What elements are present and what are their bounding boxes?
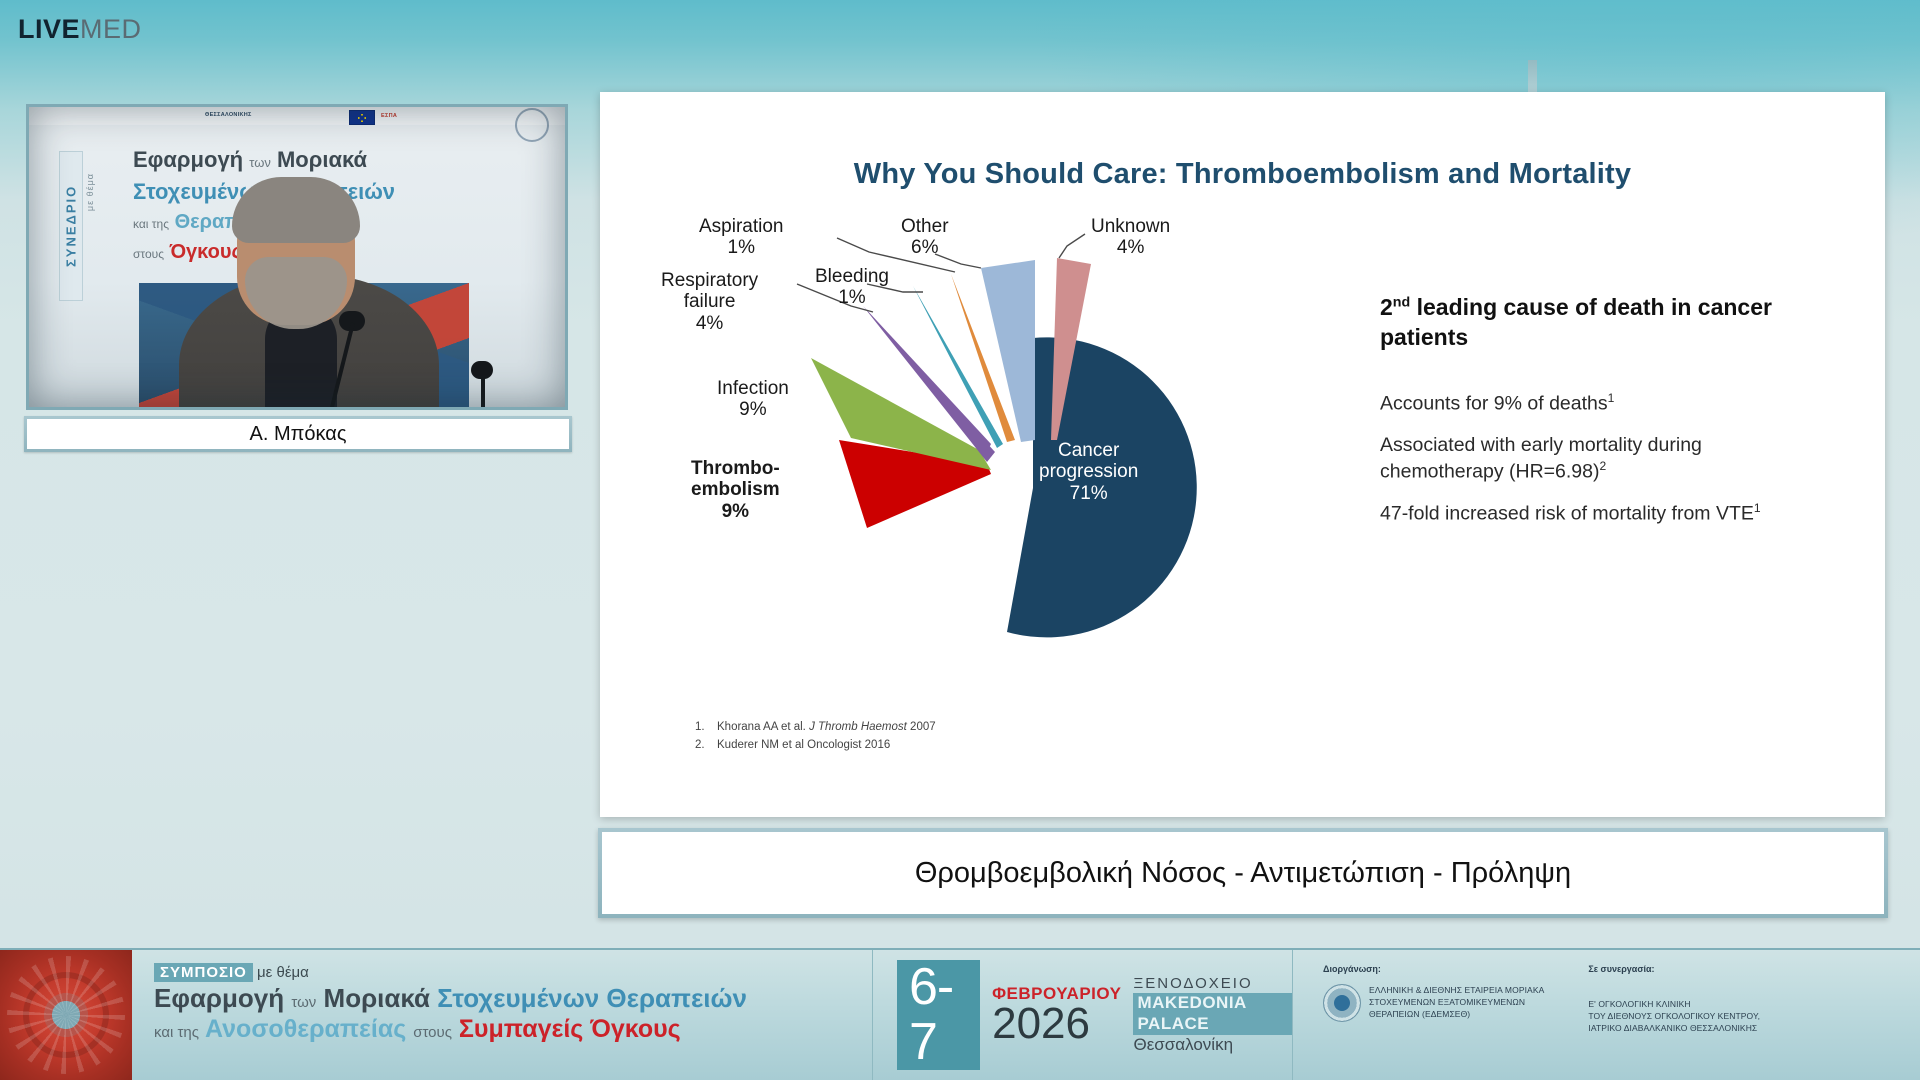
footer-organizers-block: Διοργάνωση: ΕΛΛΗΝΙΚΗ & ΔΙΕΘΝΗΣ ΕΤΑΙΡΕΙΑ … [1292, 950, 1920, 1080]
footer-venue-name: MAKEDONIA PALACE [1133, 993, 1292, 1034]
footer-cooperation-line-1: Ε' ΟΓΚΟΛΟΓΙΚΗ ΚΛΙΝΙΚΗ [1588, 998, 1760, 1010]
banner-word-stous: στους [133, 247, 164, 261]
organizer-seal-icon [1323, 984, 1361, 1022]
bullet-2-sup: 2 [1599, 459, 1606, 473]
scrollbar-thumb[interactable] [1528, 60, 1537, 96]
leader-line-unknown [1059, 234, 1085, 258]
university-seal-icon [515, 108, 549, 142]
banner-word-moriaka: Μοριακά [277, 147, 367, 172]
banner-vertical-sub: με θέμα [85, 173, 95, 211]
slide-right-heading: 2nd leading cause of death in cancer pat… [1380, 292, 1800, 353]
banner-top-strip [29, 107, 565, 125]
conference-footer: ΣΥΜΠΟΣΙΟ με θέμα Εφαρμογή των Μοριακά Στ… [0, 948, 1920, 1080]
banner-word-ogkous: Όγκους [170, 241, 242, 263]
slide-bullet-2: Associated with early mortality during c… [1380, 433, 1800, 485]
footnote-1-author: Khorana AA et al. [717, 721, 809, 733]
slide-footnotes: 1. Khorana AA et al. J Thromb Haemost 20… [695, 719, 936, 755]
footer-title-block: ΣΥΜΠΟΣΙΟ με θέμα Εφαρμογή των Μοριακά Στ… [132, 950, 872, 1080]
pie-label-unknown: Unknown4% [1091, 216, 1170, 259]
footnote-2-number: 2. [695, 737, 709, 755]
banner-vertical-label: ΣΥΝΕΔΡΙΟ [59, 151, 83, 301]
video-frame: ΘΕΣΣΑΛΟΝΙΚΗΣ ΕΣΠΑ ΣΥΝΕΔΡΙΟ με θέμα Εφαρμ… [29, 107, 565, 407]
pie-label-bleeding: Bleeding1% [815, 266, 889, 309]
footer-word-moriaka: Μοριακά [324, 983, 430, 1013]
footer-date-block: 6-7 ΦΕΒΡΟΥΑΡΙΟΥ 2026 ΞΕΝΟΔΟΧΕΙΟ MAKEDONI… [872, 950, 1292, 1080]
banner-word-ton: των [249, 155, 271, 170]
banner-word-kaitis: και της [133, 217, 169, 231]
banner-espa-logo: ΕΣΠΑ [381, 113, 397, 119]
footer-word-kaitis: και της [154, 1024, 199, 1041]
footer-venue-city: Θεσσαλονίκη [1133, 1035, 1292, 1056]
logo-med-text: MED [80, 14, 142, 44]
speaker-hair [232, 177, 360, 243]
footnote-1-year: 2007 [907, 721, 936, 733]
microphone2-stand [481, 375, 485, 410]
footer-organizer-lines: ΕΛΛΗΝΙΚΗ & ΔΙΕΘΝΗΣ ΕΤΑΙΡΕΙΑ ΜΟΡΙΑΚΑ ΣΤΟΧ… [1369, 984, 1544, 1020]
footer-word-anosotherapeias: Ανοσοθεραπείας [205, 1015, 406, 1043]
footer-symposium-line: ΣΥΜΠΟΣΙΟ με θέμα [154, 964, 872, 981]
footnote-1-journal: J Thromb Haemost [809, 721, 907, 733]
bullet-3-text: 47-fold increased risk of mortality from… [1380, 502, 1754, 524]
eu-flag-icon [349, 110, 375, 125]
banner-word-efarmogi: Εφαρμογή [133, 147, 243, 172]
footer-word-stous: στους [413, 1024, 452, 1041]
banner-city-label: ΘΕΣΣΑΛΟΝΙΚΗΣ [205, 112, 252, 118]
heading-ordinal: 2 [1380, 294, 1393, 320]
footer-date-monthyear: ΦΕΒΡΟΥΑΡΙΟΥ 2026 [992, 985, 1121, 1045]
logo-live-text: LIVE [18, 14, 80, 44]
virus-logo-icon [0, 950, 132, 1080]
footer-venue-label: ΞΕΝΟΔΟΧΕΙΟ [1133, 975, 1292, 993]
session-title-bar: Θρομβοεμβολική Νόσος - Αντιμετώπιση - Πρ… [598, 828, 1888, 918]
footnote-1: 1. Khorana AA et al. J Thromb Haemost 20… [695, 719, 936, 737]
heading-ordinal-sup: nd [1393, 294, 1410, 310]
pie-label-respiratory-failure: Respiratoryfailure4% [661, 270, 758, 334]
footer-cooperation-line-3: ΙΑΤΡΙΚΟ ΔΙΑΒΑΛΚΑΝΙΚΟ ΘΕΣΣΑΛΟΝΙΚΗΣ [1588, 1022, 1760, 1034]
footer-date-days: 6-7 [897, 960, 980, 1070]
footnote-2: 2. Kuderer NM et al Oncologist 2016 [695, 737, 936, 755]
footer-organizer-line-1: ΕΛΛΗΝΙΚΗ & ΔΙΕΘΝΗΣ ΕΤΑΙΡΕΙΑ ΜΟΡΙΑΚΑ [1369, 984, 1544, 996]
footnote-1-number: 1. [695, 719, 709, 737]
pie-label-infection: Infection9% [717, 378, 789, 421]
footer-organizer-row: ΕΛΛΗΝΙΚΗ & ΔΙΕΘΝΗΣ ΕΤΑΙΡΕΙΑ ΜΟΡΙΑΚΑ ΣΤΟΧ… [1323, 984, 1544, 1022]
slide-right-text-block: 2nd leading cause of death in cancer pat… [1380, 292, 1800, 543]
slide-bullet-1: Accounts for 9% of deaths1 [1380, 391, 1800, 417]
pie-label-aspiration: Aspiration1% [699, 216, 784, 259]
footer-organizer-line-3: ΘΕΡΑΠΕΙΩΝ (ΕΔΕΜΣΕΘ) [1369, 1008, 1544, 1020]
pie-slice-other-b [981, 260, 1035, 442]
footer-cooperation-heading: Σε συνεργασία: [1588, 964, 1760, 974]
slide-bullet-3: 47-fold increased risk of mortality from… [1380, 501, 1800, 527]
footer-organizer-heading: Διοργάνωση: [1323, 964, 1544, 974]
footer-cooperation-lines: Ε' ΟΓΚΟΛΟΓΙΚΗ ΚΛΙΝΙΚΗ ΤΟΥ ΔΙΕΘΝΟΥΣ ΟΓΚΟΛ… [1588, 984, 1760, 1034]
footer-symposium-badge: ΣΥΜΠΟΣΙΟ [154, 963, 253, 982]
presentation-slide[interactable]: Why You Should Care: Thromboembolism and… [600, 92, 1885, 817]
footnote-2-text: Kuderer NM et al Oncologist 2016 [717, 737, 890, 755]
footer-cooperation-line-2: ΤΟΥ ΔΙΕΘΝΟΥΣ ΟΓΚΟΛΟΓΙΚΟΥ ΚΕΝΤΡΟΥ, [1588, 1010, 1760, 1022]
bullet-2-text: Associated with early mortality during c… [1380, 434, 1702, 482]
footer-symposium-sub: με θέμα [257, 964, 309, 981]
footer-word-stoxeumenon: Στοχευμένων Θεραπειών [437, 983, 747, 1013]
speaker-video-player[interactable]: ΘΕΣΣΑΛΟΝΙΚΗΣ ΕΣΠΑ ΣΥΝΕΔΡΙΟ με θέμα Εφαρμ… [26, 104, 568, 410]
heading-rest: leading cause of death in cancer patient… [1380, 294, 1772, 350]
footer-theme-line-1: Εφαρμογή των Μοριακά Στοχευμένων Θεραπει… [154, 984, 872, 1013]
footer-word-sympageis: Συμπαγείς Όγκους [459, 1015, 681, 1043]
pie-slices [811, 258, 1197, 637]
banner-line-4: στους Όγκους [133, 241, 242, 264]
bullet-3-sup: 1 [1754, 501, 1761, 515]
banner-line-1: Εφαρμογή των Μοριακά [133, 147, 367, 173]
livemed-logo[interactable]: LIVEMED [18, 16, 142, 43]
footer-cooperation-col: Σε συνεργασία: Ε' ΟΓΚΟΛΟΓΙΚΗ ΚΛΙΝΙΚΗ ΤΟΥ… [1588, 964, 1760, 1080]
footer-date-year: 2026 [992, 1002, 1121, 1045]
session-title-text: Θρομβοεμβολική Νόσος - Αντιμετώπιση - Πρ… [602, 832, 1884, 914]
footer-organizer-col: Διοργάνωση: ΕΛΛΗΝΙΚΗ & ΔΙΕΘΝΗΣ ΕΤΑΙΡΕΙΑ … [1323, 964, 1544, 1080]
pie-label-thromboembolism: Thrombo-embolism9% [691, 458, 780, 522]
footer-word-efarmogi: Εφαρμογή [154, 983, 284, 1013]
pie-label-other: Other6% [901, 216, 949, 259]
bullet-1-sup: 1 [1608, 391, 1615, 405]
footer-word-ton: των [291, 994, 316, 1011]
footer-venue-block: ΞΕΝΟΔΟΧΕΙΟ MAKEDONIA PALACE Θεσσαλονίκη [1133, 975, 1292, 1056]
bullet-1-text: Accounts for 9% of deaths [1380, 392, 1608, 414]
speaker-name-bar: Α. Μπόκας [24, 416, 572, 452]
footer-theme-line-2: και της Ανοσοθεραπείας στους Συμπαγείς Ό… [154, 1015, 872, 1043]
pie-chart: Aspiration1% Bleeding1% Other6% Unknown4… [655, 212, 1355, 732]
footnote-1-text: Khorana AA et al. J Thromb Haemost 2007 [717, 719, 936, 737]
pie-label-cancer-progression: Cancerprogression71% [1039, 440, 1138, 504]
footer-organizer-line-2: ΣΤΟΧΕΥΜΕΝΩΝ ΕΞΑΤΟΜΙΚΕΥΜΕΝΩΝ [1369, 996, 1544, 1008]
speaker-name-text: Α. Μπόκας [27, 419, 569, 449]
slide-title: Why You Should Care: Thromboembolism and… [600, 158, 1885, 191]
